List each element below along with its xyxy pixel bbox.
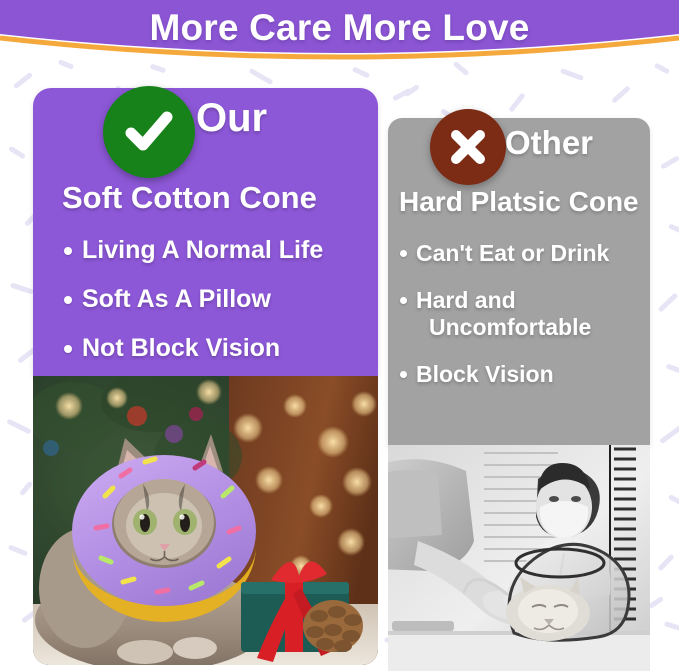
bullet-dot-icon (400, 371, 407, 378)
our-product-photo (33, 376, 378, 665)
sprinkle-dash (658, 292, 679, 312)
list-item-label: Soft As A Pillow (82, 285, 271, 313)
vet-plastic-cone-image (388, 445, 650, 671)
sprinkle-dash (19, 481, 33, 496)
other-heading-row: Other (505, 124, 593, 162)
sprinkle-dash (660, 155, 679, 169)
list-item: Not Block Vision (64, 334, 374, 362)
bullet-dot-icon (64, 345, 72, 353)
list-item: Hard andUncomfortable (400, 287, 644, 341)
sprinkle-dash (8, 146, 26, 160)
our-subheading: Soft Cotton Cone (62, 180, 317, 216)
sprinkle-dash (659, 425, 679, 444)
sprinkle-dash (668, 223, 679, 237)
list-item-label: Can't Eat or Drink (416, 240, 609, 267)
check-circle-icon (103, 86, 195, 178)
sprinkle-dash (13, 72, 33, 89)
bullet-dot-icon (64, 247, 72, 255)
sprinkle-dash (648, 596, 664, 609)
bullet-dot-icon (400, 250, 407, 257)
check-mark-glyph (121, 104, 177, 160)
sprinkle-dash (657, 554, 674, 572)
page-title: More Care More Love (0, 0, 679, 56)
list-item-label: Hard andUncomfortable (416, 287, 591, 341)
our-heading-row: Our (196, 96, 267, 141)
bullet-dot-icon (64, 296, 72, 304)
other-subheading: Hard Platsic Cone (399, 186, 639, 218)
sprinkle-dash (611, 85, 631, 103)
infographic-stage: More Care More Love Our Other Soft Cotto… (0, 0, 679, 671)
sprinkle-dash (10, 282, 34, 294)
list-item: Soft As A Pillow (64, 285, 374, 313)
sprinkle-dash (508, 92, 525, 112)
sprinkle-dash (668, 494, 679, 507)
cross-glyph (447, 126, 489, 168)
list-item: Block Vision (400, 361, 644, 388)
list-item-label: Block Vision (416, 361, 554, 388)
our-heading: Our (196, 96, 267, 141)
list-item: Can't Eat or Drink (400, 240, 644, 267)
bullet-dot-icon (400, 297, 407, 304)
list-item-label: Not Block Vision (82, 334, 280, 362)
list-item-label: Living A Normal Life (82, 236, 323, 264)
x-circle-icon (430, 109, 506, 185)
sprinkle-dash (8, 544, 28, 556)
other-feature-list: Can't Eat or DrinkHard andUncomfortableB… (400, 240, 644, 409)
other-heading: Other (505, 124, 593, 162)
list-item-label-line2: Uncomfortable (416, 314, 591, 341)
cat-donut-cone-image (33, 376, 378, 665)
sprinkle-dash (664, 621, 679, 632)
our-feature-list: Living A Normal LifeSoft As A PillowNot … (64, 236, 374, 383)
sprinkle-dash (6, 419, 32, 435)
list-item: Living A Normal Life (64, 236, 374, 264)
sprinkle-dash (666, 363, 679, 373)
other-product-photo (388, 445, 650, 671)
